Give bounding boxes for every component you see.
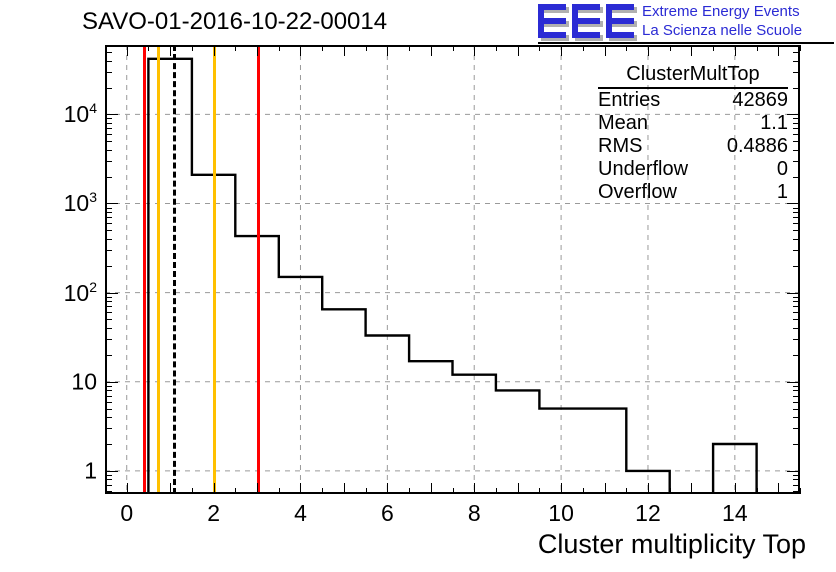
y-tick-right — [793, 409, 800, 410]
y-tick — [105, 479, 112, 480]
x-tick-top — [279, 45, 280, 51]
y-tick-right — [793, 239, 800, 240]
x-tick — [605, 483, 606, 494]
x-tick — [127, 483, 128, 494]
stats-row: RMS0.4886 — [598, 135, 788, 158]
y-tick-right — [793, 306, 800, 307]
y-tick-right — [793, 355, 800, 356]
y-tick — [105, 250, 112, 251]
y-tick-right — [787, 203, 800, 204]
stats-key: Mean — [598, 112, 654, 135]
y-tick — [105, 118, 112, 119]
x-tick-top — [778, 45, 779, 56]
y-tick-label: 10 — [71, 368, 97, 395]
x-tick — [648, 483, 649, 494]
eee-letter-2 — [572, 4, 600, 38]
x-tick-top — [539, 45, 540, 51]
y-tick — [105, 266, 112, 267]
x-tick-label: 10 — [548, 500, 574, 527]
x-tick — [800, 488, 801, 494]
y-tick-right — [793, 312, 800, 313]
x-tick — [192, 488, 193, 494]
x-tick-top — [496, 45, 497, 51]
y-tick — [105, 417, 112, 418]
root-canvas: SAVO-01-2016-10-22-00014 Extreme Energy … — [0, 0, 836, 572]
x-tick — [539, 488, 540, 494]
x-tick — [561, 483, 562, 494]
y-tick — [105, 150, 112, 151]
y-tick-right — [793, 223, 800, 224]
x-tick-top — [431, 45, 432, 56]
x-tick — [626, 488, 627, 494]
y-tick-right — [793, 479, 800, 480]
y-tick — [105, 312, 112, 313]
x-tick — [518, 483, 519, 494]
y-tick-right — [793, 491, 800, 492]
eee-letter-1 — [538, 4, 566, 38]
y-tick-right — [793, 250, 800, 251]
y-tick-right — [793, 396, 800, 397]
x-tick-top — [670, 45, 671, 51]
x-tick-top — [757, 45, 758, 51]
y-tick-right — [793, 212, 800, 213]
y-tick — [105, 88, 112, 89]
y-tick — [105, 293, 118, 294]
stats-rows: Entries42869Mean1.1RMS0.4886Underflow0Ov… — [598, 89, 788, 204]
x-tick — [735, 483, 736, 494]
stats-row: Entries42869 — [598, 89, 788, 112]
y-tick-right — [793, 444, 800, 445]
x-tick — [300, 483, 301, 494]
x-axis-title: Cluster multiplicity Top — [538, 529, 806, 560]
y-tick — [105, 402, 112, 403]
y-tick-right — [793, 208, 800, 209]
eee-logo-line1: Extreme Energy Events — [642, 2, 802, 21]
x-tick — [431, 483, 432, 494]
x-tick-top — [691, 45, 692, 56]
y-tick — [105, 161, 112, 162]
x-tick-top — [214, 45, 215, 56]
stats-title: ClusterMultTop — [598, 63, 788, 89]
x-tick — [409, 488, 410, 494]
stats-value: 1.1 — [760, 112, 788, 135]
stats-key: RMS — [598, 135, 648, 158]
y-tick-right — [787, 114, 800, 115]
header-divider — [538, 42, 834, 44]
y-tick — [105, 297, 112, 298]
stats-value: 0.4886 — [727, 135, 788, 158]
y-tick-right — [793, 319, 800, 320]
y-tick-right — [793, 134, 800, 135]
y-tick — [105, 382, 118, 383]
y-tick-right — [793, 161, 800, 162]
stats-box: ClusterMultTop Entries42869Mean1.1RMS0.4… — [598, 63, 788, 204]
eee-logo-text: Extreme Energy Events La Scienza nelle S… — [642, 2, 802, 40]
x-tick — [170, 483, 171, 494]
y-tick-right — [793, 485, 800, 486]
x-tick-label: 6 — [381, 500, 394, 527]
stats-value: 0 — [777, 158, 788, 181]
y-tick-right — [793, 428, 800, 429]
y-tick — [105, 319, 112, 320]
y-tick — [105, 203, 118, 204]
x-tick — [257, 483, 258, 494]
y-tick — [105, 428, 112, 429]
y-tick — [105, 396, 112, 397]
y-tick — [105, 390, 112, 391]
y-tick-right — [787, 293, 800, 294]
y-tick — [105, 491, 112, 492]
x-tick — [757, 488, 758, 494]
x-tick — [235, 488, 236, 494]
y-tick-right — [793, 177, 800, 178]
x-tick-top — [235, 45, 236, 51]
y-tick — [105, 230, 112, 231]
y-tick — [105, 306, 112, 307]
x-tick-top — [192, 45, 193, 51]
y-tick-right — [793, 150, 800, 151]
x-tick — [496, 488, 497, 494]
y-tick-right — [793, 118, 800, 119]
y-tick-label: 1 — [84, 457, 97, 484]
x-tick-top — [583, 45, 584, 51]
eee-logo-mark — [538, 4, 634, 38]
y-tick-right — [793, 390, 800, 391]
x-tick-label: 8 — [468, 500, 481, 527]
stats-row: Mean1.1 — [598, 112, 788, 135]
y-tick — [105, 141, 112, 142]
y-tick — [105, 355, 112, 356]
y-tick-right — [793, 45, 800, 46]
stats-row: Overflow1 — [598, 181, 788, 204]
y-tick — [105, 386, 112, 387]
y-tick — [105, 45, 112, 46]
x-tick — [279, 488, 280, 494]
x-tick — [148, 488, 149, 494]
y-tick — [105, 134, 112, 135]
y-tick — [105, 409, 112, 410]
y-tick-right — [787, 382, 800, 383]
stats-value: 1 — [777, 181, 788, 204]
x-tick-top — [474, 45, 475, 56]
y-tick-right — [793, 301, 800, 302]
eee-letter-3 — [606, 4, 634, 38]
x-tick — [453, 488, 454, 494]
y-tick — [105, 301, 112, 302]
y-tick — [105, 339, 112, 340]
y-tick — [105, 444, 112, 445]
y-tick — [105, 128, 112, 129]
x-tick-top — [170, 45, 171, 56]
x-tick — [713, 488, 714, 494]
x-tick — [366, 488, 367, 494]
eee-logo-line2: La Scienza nelle Scuole — [642, 21, 802, 40]
x-tick-top — [518, 45, 519, 56]
x-tick — [778, 483, 779, 494]
y-tick — [105, 217, 112, 218]
y-tick — [105, 223, 112, 224]
x-tick — [474, 483, 475, 494]
y-tick-right — [793, 297, 800, 298]
y-tick-right — [793, 386, 800, 387]
x-tick-top — [366, 45, 367, 51]
y-tick-right — [793, 128, 800, 129]
y-tick-right — [793, 52, 800, 53]
y-tick-right — [793, 402, 800, 403]
y-tick-label: 103 — [64, 190, 97, 218]
x-tick — [344, 483, 345, 494]
y-tick-right — [793, 141, 800, 142]
x-tick — [214, 483, 215, 494]
y-tick-right — [793, 230, 800, 231]
x-tick-top — [322, 45, 323, 51]
y-tick-right — [793, 61, 800, 62]
x-tick-top — [561, 45, 562, 56]
y-tick — [105, 177, 112, 178]
stats-key: Overflow — [598, 181, 683, 204]
y-tick-right — [793, 217, 800, 218]
y-tick-right — [793, 123, 800, 124]
x-tick-top — [300, 45, 301, 56]
x-tick-label: 14 — [722, 500, 748, 527]
y-tick — [105, 212, 112, 213]
y-tick — [105, 208, 112, 209]
x-tick-top — [409, 45, 410, 51]
x-tick-top — [257, 45, 258, 56]
y-tick — [105, 61, 112, 62]
y-tick-right — [793, 328, 800, 329]
y-tick — [105, 471, 118, 472]
x-tick-top — [453, 45, 454, 51]
x-tick — [691, 483, 692, 494]
y-tick — [105, 72, 112, 73]
eee-logo: Extreme Energy Events La Scienza nelle S… — [538, 2, 834, 42]
x-tick-top — [735, 45, 736, 56]
x-tick — [387, 483, 388, 494]
x-tick-top — [387, 45, 388, 56]
y-tick — [105, 485, 112, 486]
y-tick — [105, 328, 112, 329]
stats-key: Underflow — [598, 158, 694, 181]
x-tick-top — [148, 45, 149, 51]
y-tick — [105, 52, 112, 53]
y-tick — [105, 239, 112, 240]
y-tick-right — [787, 471, 800, 472]
x-tick-top — [605, 45, 606, 56]
y-tick-right — [793, 417, 800, 418]
stats-key: Entries — [598, 89, 666, 112]
x-tick-top — [127, 45, 128, 56]
y-tick-label: 104 — [64, 101, 97, 129]
x-tick-label: 12 — [635, 500, 661, 527]
x-tick-top — [648, 45, 649, 56]
x-tick — [322, 488, 323, 494]
x-tick-top — [344, 45, 345, 56]
y-tick — [105, 114, 118, 115]
y-tick-right — [793, 339, 800, 340]
x-tick-label: 2 — [207, 500, 220, 527]
x-tick-top — [626, 45, 627, 51]
stats-value: 42869 — [732, 89, 788, 112]
y-tick-right — [793, 88, 800, 89]
y-tick-right — [793, 72, 800, 73]
y-tick — [105, 475, 112, 476]
x-tick-label: 0 — [120, 500, 133, 527]
x-tick-top — [800, 45, 801, 51]
x-tick — [670, 488, 671, 494]
stats-row: Underflow0 — [598, 158, 788, 181]
y-tick-label: 102 — [64, 279, 97, 307]
page-title: SAVO-01-2016-10-22-00014 — [82, 8, 387, 36]
x-tick-label: 4 — [294, 500, 307, 527]
y-tick — [105, 123, 112, 124]
y-tick-right — [793, 266, 800, 267]
y-tick-right — [793, 475, 800, 476]
x-tick-top — [713, 45, 714, 51]
x-tick — [583, 488, 584, 494]
